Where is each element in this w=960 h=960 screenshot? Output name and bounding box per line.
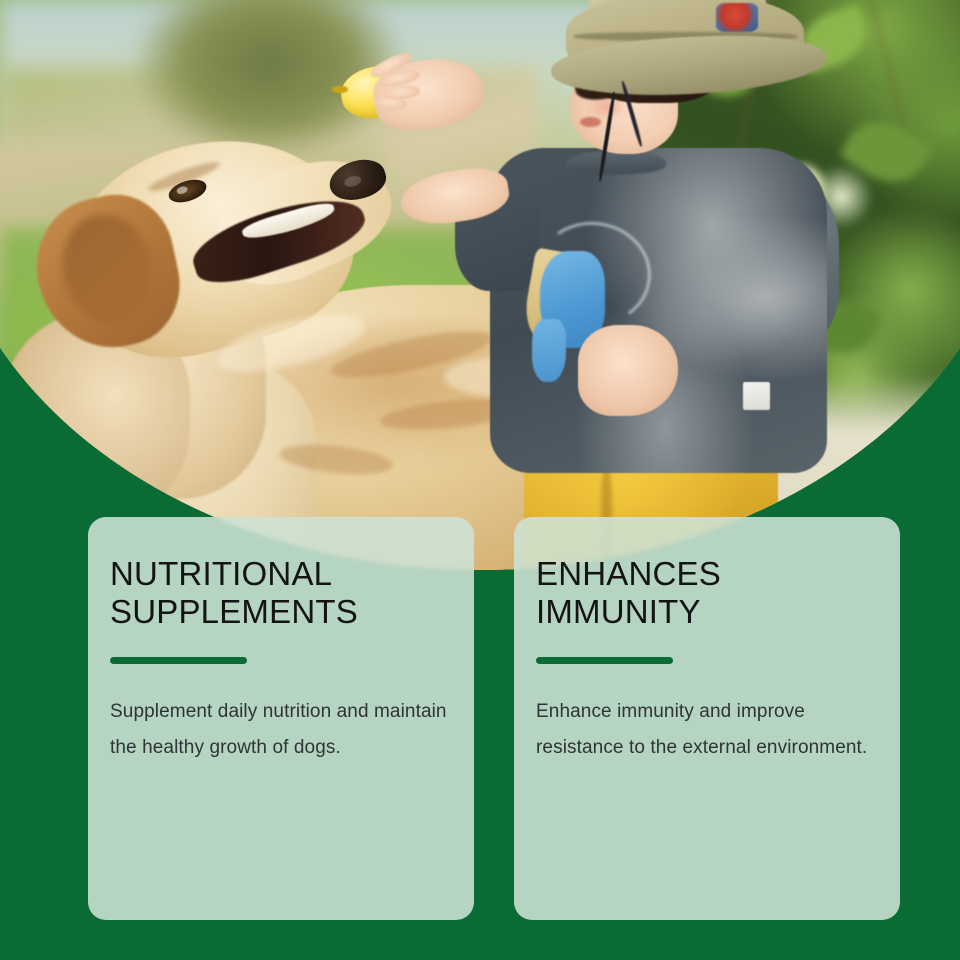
feature-cards: NUTRITIONAL SUPPLEMENTS Supplement daily… (88, 517, 900, 920)
feature-card-description: Supplement daily nutrition and maintain … (110, 694, 450, 766)
boy-figure (470, 0, 854, 570)
boy-lips (580, 117, 601, 127)
feature-card-enhances-immunity[interactable]: ENHANCES IMMUNITY Enhance immunity and i… (514, 517, 900, 920)
hero-image-region (0, 0, 960, 570)
boy-right-arm (578, 325, 678, 416)
lemon-stem-nub (332, 86, 347, 94)
feature-card-accent-rule (110, 657, 247, 664)
hero-ellipse-mask (0, 0, 960, 570)
tshirt-graphic-blue-dog-leg (532, 319, 567, 382)
hero-photograph (0, 0, 960, 570)
feature-card-title: NUTRITIONAL SUPPLEMENTS (110, 555, 452, 631)
feature-card-nutritional-supplements[interactable]: NUTRITIONAL SUPPLEMENTS Supplement daily… (88, 517, 474, 920)
feature-card-title: ENHANCES IMMUNITY (536, 555, 878, 631)
product-feature-poster: NUTRITIONAL SUPPLEMENTS Supplement daily… (0, 0, 960, 960)
bucket-hat-patch (716, 3, 758, 32)
tshirt-hem-tag (743, 382, 770, 411)
feature-card-description: Enhance immunity and improve resistance … (536, 694, 876, 766)
boy-shirt-collar (566, 151, 666, 174)
feature-card-accent-rule (536, 657, 673, 664)
